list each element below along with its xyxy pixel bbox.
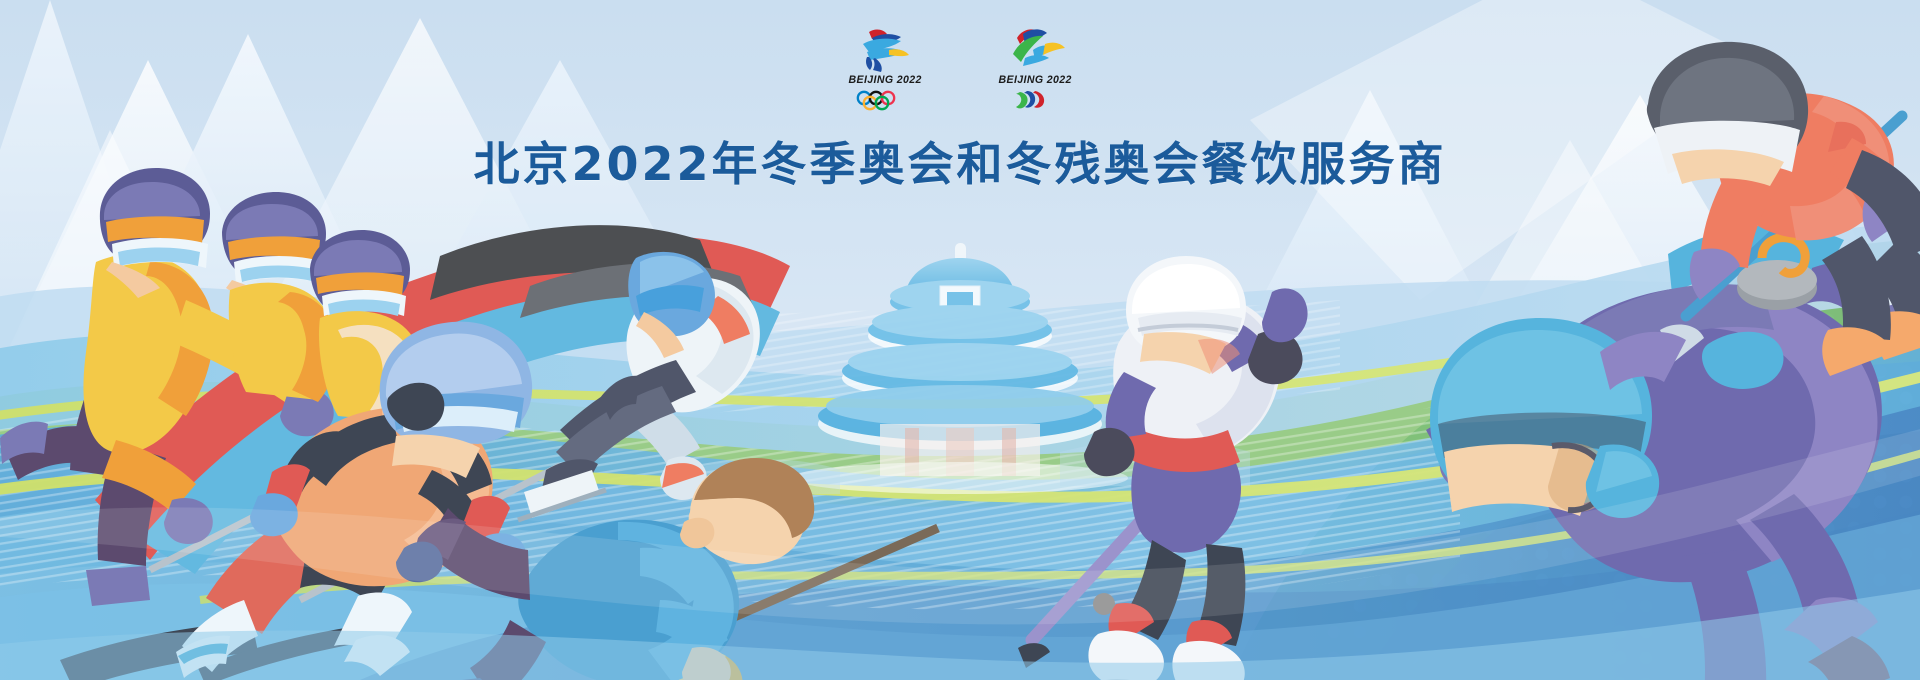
beijing-2022-olympic-emblem[interactable]: BEIJING 2022 — [839, 24, 931, 111]
olympic-wordmark: BEIJING 2022 — [848, 74, 921, 86]
flying-high-emblem-icon — [989, 24, 1081, 72]
paralympic-wordmark: BEIJING 2022 — [998, 74, 1071, 86]
beijing-2022-paralympic-emblem[interactable]: BEIJING 2022 — [989, 24, 1081, 111]
emblem-group: BEIJING 2022 — [839, 24, 1081, 111]
agitos-icon — [989, 89, 1081, 111]
olympic-rings-icon — [839, 89, 931, 111]
olympics-catering-banner: BEIJING 2022 — [0, 0, 1920, 680]
winter-dream-emblem-icon — [839, 24, 931, 72]
page-title: 北京2022年冬季奥会和冬残奥会餐饮服务商 — [473, 128, 1446, 194]
